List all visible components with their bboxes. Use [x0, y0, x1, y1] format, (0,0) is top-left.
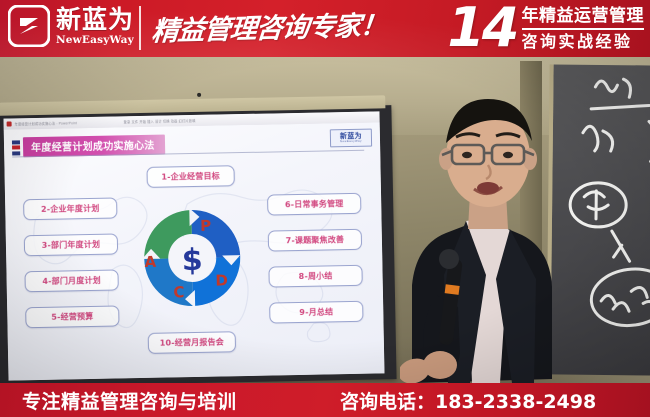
slide-canvas: 年度经营计划成功实施心法 新蓝为 NewEasyWay 1-企业经营目标 2-企…	[4, 122, 385, 380]
slide-item-left-2: 3-部门年度计划	[24, 233, 118, 256]
powerpoint-title-text: 年度经营计划成功实施心法 - PowerPoint	[15, 120, 77, 126]
pdca-center-symbol: $	[182, 243, 204, 278]
experience-years-number: 14	[447, 2, 516, 54]
pdca-label-d: D	[215, 271, 228, 289]
footer-bar: 专注精益管理咨询与培训 咨询电话：183-2338-2498	[0, 383, 650, 417]
footer-phone-number: 183-2338-2498	[435, 391, 596, 413]
pdca-label-a: A	[144, 253, 156, 271]
header-slogan: 精益管理咨询专家！	[150, 5, 419, 54]
slide-item-right-3: 8-周小结	[268, 265, 362, 288]
brand-name-en: NewEasyWay	[56, 35, 134, 46]
slide-item-right-4: 9-月总结	[269, 301, 363, 324]
display-screen: 年度经营计划成功实施心法 - PowerPoint 登录 文件 开始 插入 设计…	[4, 111, 385, 380]
header-divider	[139, 6, 141, 50]
brand-name-cn: 新蓝为	[56, 7, 134, 32]
slide-item-left-4: 5-经营预算	[25, 305, 119, 328]
presentation-display: 年度经营计划成功实施心法 - PowerPoint 登录 文件 开始 插入 设计…	[0, 105, 397, 383]
slide-corner-logo-en: NewEasyWay	[340, 139, 362, 143]
slide-item-right-2: 7-课题聚焦改善	[268, 229, 362, 252]
pdca-label-c: C	[173, 283, 184, 301]
header-banner: 新蓝为 NewEasyWay 精益管理咨询专家！ 14 年精益运营管理 咨询实战…	[0, 0, 650, 57]
slide-item-right-1: 6-日常事务管理	[267, 193, 361, 216]
lecture-photo: 年度经营计划成功实施心法 - PowerPoint 登录 文件 开始 插入 设计…	[0, 57, 650, 383]
experience-years-lines: 年精益运营管理 咨询实战经验	[522, 6, 645, 50]
slide-item-top: 1-企业经营目标	[146, 165, 234, 188]
powerpoint-menu-text[interactable]: 登录 文件 开始 插入 设计 切换 动画 幻灯片放映	[124, 117, 196, 123]
slide-corner-logo: 新蓝为 NewEasyWay	[330, 129, 372, 148]
pdca-cycle-diagram: $ P D C A	[137, 203, 247, 313]
slide-item-bottom: 10-经营月报告会	[148, 331, 236, 354]
slide-title-bullet-icon	[12, 140, 20, 155]
experience-line-1: 年精益运营管理	[522, 8, 645, 28]
footer-contact-label: 咨询电话：	[340, 391, 435, 413]
powerpoint-app-icon	[7, 121, 12, 126]
footer-contact: 咨询电话：183-2338-2498	[340, 387, 596, 414]
experience-years-block: 14 年精益运营管理 咨询实战经验	[447, 2, 644, 54]
slide-item-left-1: 2-企业年度计划	[23, 197, 117, 220]
neweasyway-logo-icon	[8, 5, 50, 47]
footer-tagline: 专注精益管理咨询与培训	[22, 387, 237, 414]
brand-logo-text: 新蓝为 NewEasyWay	[56, 7, 134, 46]
brand-logo: 新蓝为 NewEasyWay	[8, 5, 134, 47]
pdca-label-p: P	[200, 217, 211, 235]
promotional-banner-frame: 新蓝为 NewEasyWay 精益管理咨询专家！ 14 年精益运营管理 咨询实战…	[0, 0, 650, 417]
presenter-figure	[400, 89, 590, 383]
slide-item-left-3: 4-部门月度计划	[24, 269, 118, 292]
display-camera-icon	[197, 93, 201, 97]
experience-line-2: 咨询实战经验	[522, 30, 645, 50]
